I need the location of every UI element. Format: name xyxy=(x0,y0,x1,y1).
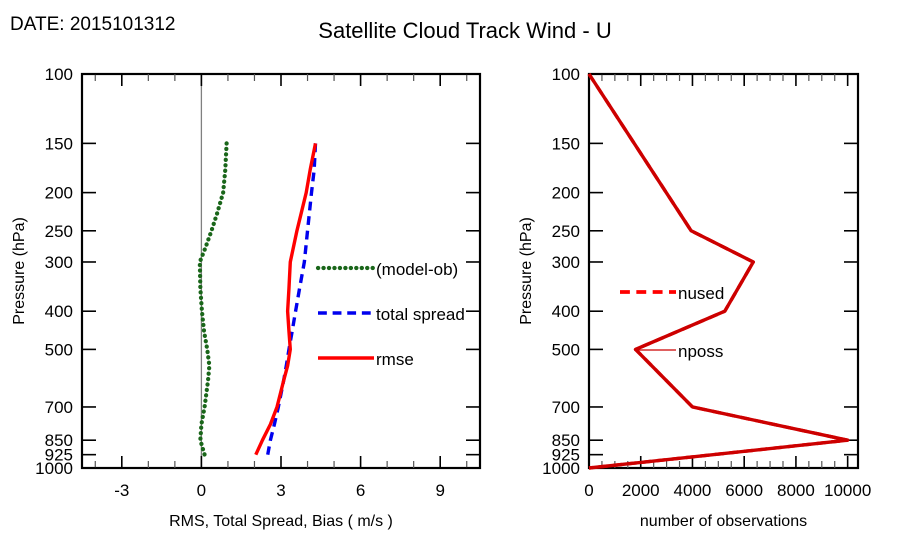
y-tick-label: 250 xyxy=(45,222,73,241)
figure-canvas: DATE: 2015101312 Satellite Cloud Track W… xyxy=(0,0,900,560)
y-tick-label: 1000 xyxy=(35,459,73,478)
y-tick-label: 400 xyxy=(45,302,73,321)
plot-svg: DATE: 2015101312 Satellite Cloud Track W… xyxy=(0,0,900,560)
x-tick-label: 0 xyxy=(197,481,206,500)
x-tick-label: 3 xyxy=(276,481,285,500)
y-tick-label: 100 xyxy=(45,65,73,84)
legend-label: (model-ob) xyxy=(376,260,458,279)
legend-label: nposs xyxy=(678,342,723,361)
series-line-rmse xyxy=(256,143,316,454)
x-tick-label: 8000 xyxy=(777,481,815,500)
x-tick-label: 6 xyxy=(356,481,365,500)
right-panel-chart: 0200040006000800010000100150200250300400… xyxy=(518,65,871,530)
y-tick-label: 1000 xyxy=(542,459,580,478)
y-tick-label: 300 xyxy=(552,253,580,272)
x-tick-label: 4000 xyxy=(674,481,712,500)
legend-label: rmse xyxy=(376,350,414,369)
x-axis-title: RMS, Total Spread, Bias ( m/s ) xyxy=(169,513,393,530)
legend-label: nused xyxy=(678,284,724,303)
x-tick-label: 9 xyxy=(435,481,444,500)
y-tick-label: 200 xyxy=(552,184,580,203)
series-line--model-ob- xyxy=(200,143,227,454)
y-tick-label: 500 xyxy=(552,340,580,359)
y-tick-label: 400 xyxy=(552,302,580,321)
x-tick-label: -3 xyxy=(114,481,129,500)
y-tick-label: 250 xyxy=(552,222,580,241)
series-line-nposs xyxy=(589,74,848,468)
y-tick-label: 700 xyxy=(552,398,580,417)
x-tick-label: 2000 xyxy=(622,481,660,500)
y-tick-label: 200 xyxy=(45,184,73,203)
x-tick-label: 0 xyxy=(584,481,593,500)
y-tick-label: 700 xyxy=(45,398,73,417)
x-tick-label: 10000 xyxy=(824,481,871,500)
y-tick-label: 300 xyxy=(45,253,73,272)
page-title: Satellite Cloud Track Wind - U xyxy=(318,18,611,43)
x-axis-title: number of observations xyxy=(640,513,807,530)
left-panel-chart: -303691001502002503004005007008509251000… xyxy=(11,65,480,530)
y-axis-title: Pressure (hPa) xyxy=(518,217,535,325)
x-tick-label: 6000 xyxy=(725,481,763,500)
y-tick-label: 150 xyxy=(45,134,73,153)
legend-label: total spread xyxy=(376,305,465,324)
y-tick-label: 100 xyxy=(552,65,580,84)
y-tick-label: 500 xyxy=(45,340,73,359)
y-axis-title: Pressure (hPa) xyxy=(11,217,28,325)
y-tick-label: 150 xyxy=(552,134,580,153)
date-label: DATE: 2015101312 xyxy=(10,14,176,35)
